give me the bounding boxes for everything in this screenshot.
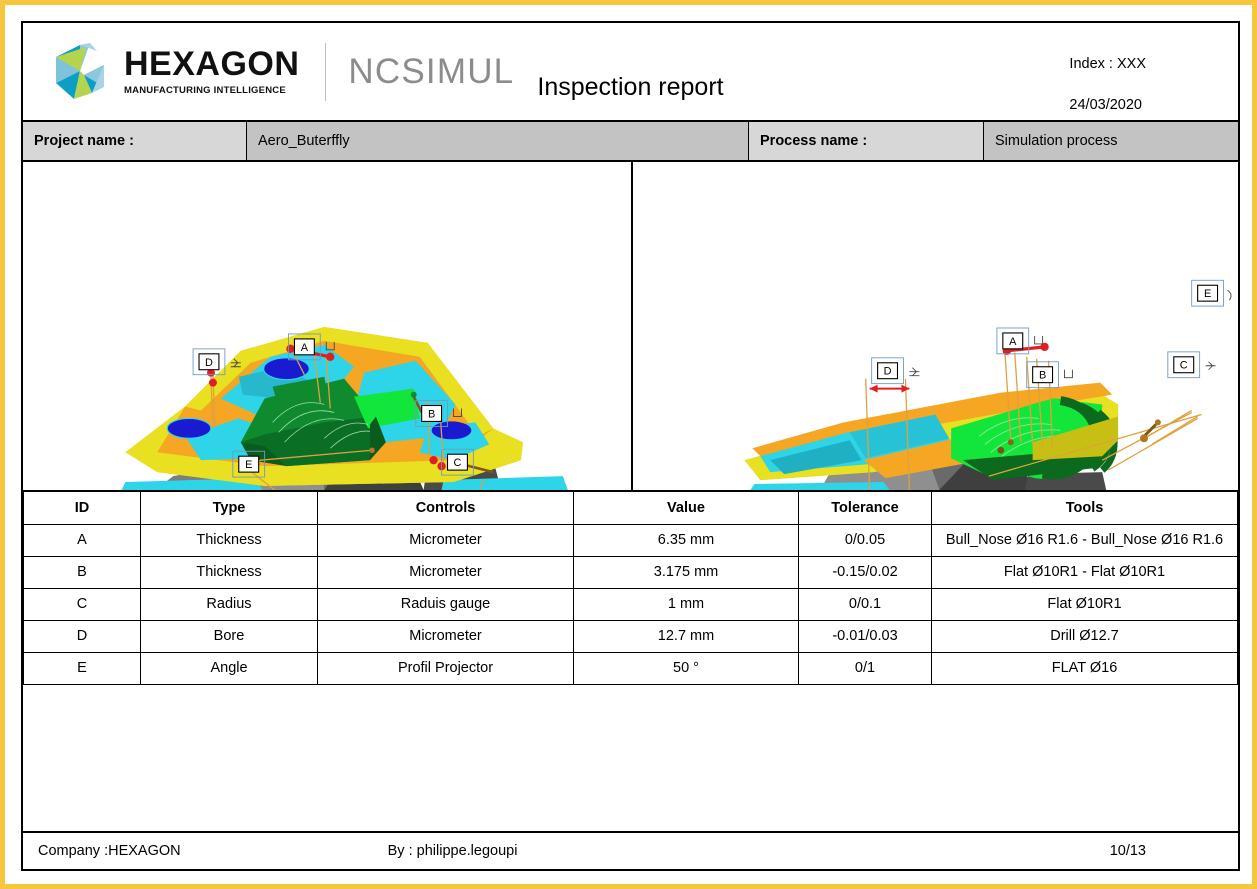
cell-tools: Bull_Nose Ø16 R1.6 - Bull_Nose Ø16 R1.6 [932, 524, 1238, 556]
names-bar: Project name : Aero_Buterffly Process na… [23, 122, 1238, 162]
table-row[interactable]: D Bore Micrometer 12.7 mm -0.01/0.03 Dri… [24, 620, 1238, 652]
hexagon-logo-mark [50, 41, 110, 103]
cell-controls: Micrometer [318, 620, 574, 652]
cell-controls: Micrometer [318, 556, 574, 588]
cell-value: 6.35 mm [574, 524, 799, 556]
logo-divider [325, 43, 326, 101]
cell-type: Thickness [141, 556, 318, 588]
cell-id: D [24, 620, 141, 652]
report-page: HEXAGON MANUFACTURING INTELLIGENCE NCSIM… [0, 0, 1257, 889]
cell-type: Bore [141, 620, 318, 652]
project-name-label: Project name : [23, 122, 247, 160]
results-table-wrap: ID Type Controls Value Tolerance Tools A… [23, 492, 1238, 831]
cell-tools: Drill Ø12.7 [932, 620, 1238, 652]
cell-id: A [24, 524, 141, 556]
footer-company: Company :HEXAGON [38, 843, 181, 859]
svg-text:E: E [245, 459, 252, 471]
process-name-label: Process name : [749, 122, 984, 160]
report-date: 24/03/2020 [1069, 98, 1146, 113]
model-views: D A B [23, 162, 1238, 492]
footer-author: By : philippe.legoupi [388, 843, 518, 859]
cell-controls: Profil Projector [318, 652, 574, 684]
table-row[interactable]: E Angle Profil Projector 50 ° 0/1 FLAT Ø… [24, 652, 1238, 684]
hexagon-wordmark: HEXAGON MANUFACTURING INTELLIGENCE [124, 47, 299, 96]
inspection-results-table: ID Type Controls Value Tolerance Tools A… [23, 492, 1238, 685]
cell-tools: Flat Ø10R1 - Flat Ø10R1 [932, 556, 1238, 588]
cell-value: 1 mm [574, 588, 799, 620]
cell-id: C [24, 588, 141, 620]
table-row[interactable]: A Thickness Micrometer 6.35 mm 0/0.05 Bu… [24, 524, 1238, 556]
cell-tolerance: 0/0.1 [799, 588, 932, 620]
part-3d-view-left[interactable]: D A B [23, 162, 631, 490]
cell-tolerance: 0/1 [799, 652, 932, 684]
svg-text:D: D [883, 366, 891, 378]
svg-text:A: A [301, 342, 309, 354]
product-name: NCSIMUL [348, 52, 514, 92]
cell-tolerance: -0.15/0.02 [799, 556, 932, 588]
process-name-value: Simulation process [984, 122, 1238, 160]
cell-type: Radius [141, 588, 318, 620]
header-meta: Index : XXX 24/03/2020 [1069, 57, 1146, 112]
report-footer: Company :HEXAGON By : philippe.legoupi 1… [23, 831, 1238, 869]
table-row[interactable]: C Radius Raduis gauge 1 mm 0/0.1 Flat Ø1… [24, 588, 1238, 620]
cell-value: 12.7 mm [574, 620, 799, 652]
footer-page-number: 10/13 [1110, 843, 1146, 859]
cell-tolerance: 0/0.05 [799, 524, 932, 556]
cell-id: B [24, 556, 141, 588]
column-header-id[interactable]: ID [24, 492, 141, 524]
cell-controls: Micrometer [318, 524, 574, 556]
table-body: A Thickness Micrometer 6.35 mm 0/0.05 Bu… [24, 524, 1238, 684]
svg-text:E: E [1203, 288, 1210, 300]
cell-controls: Raduis gauge [318, 588, 574, 620]
svg-text:B: B [1038, 370, 1045, 382]
column-header-tools[interactable]: Tools [932, 492, 1238, 524]
column-header-value[interactable]: Value [574, 492, 799, 524]
table-header-row: ID Type Controls Value Tolerance Tools [24, 492, 1238, 524]
cell-tolerance: -0.01/0.03 [799, 620, 932, 652]
cell-type: Thickness [141, 524, 318, 556]
svg-text:A: A [1009, 336, 1017, 348]
column-header-tolerance[interactable]: Tolerance [799, 492, 932, 524]
cell-value: 3.175 mm [574, 556, 799, 588]
column-header-controls[interactable]: Controls [318, 492, 574, 524]
cell-tools: FLAT Ø16 [932, 652, 1238, 684]
cell-value: 50 ° [574, 652, 799, 684]
svg-text:D: D [205, 357, 213, 369]
brand-name: HEXAGON [124, 47, 299, 81]
column-header-type[interactable]: Type [141, 492, 318, 524]
cell-tools: Flat Ø10R1 [932, 588, 1238, 620]
brand-tagline: MANUFACTURING INTELLIGENCE [124, 85, 299, 96]
report-sheet: HEXAGON MANUFACTURING INTELLIGENCE NCSIM… [21, 21, 1240, 871]
part-3d-view-right[interactable]: A B D [631, 162, 1239, 490]
report-header: HEXAGON MANUFACTURING INTELLIGENCE NCSIM… [23, 23, 1238, 122]
svg-text:B: B [428, 408, 435, 420]
index-label: Index : XXX [1069, 57, 1146, 72]
cell-type: Angle [141, 652, 318, 684]
svg-text:C: C [1179, 360, 1187, 372]
table-row[interactable]: B Thickness Micrometer 3.175 mm -0.15/0.… [24, 556, 1238, 588]
project-name-value: Aero_Buterffly [247, 122, 749, 160]
hexagon-logo: HEXAGON MANUFACTURING INTELLIGENCE [50, 41, 299, 103]
cell-id: E [24, 652, 141, 684]
svg-text:C: C [454, 457, 462, 469]
bore-hole [432, 421, 472, 439]
